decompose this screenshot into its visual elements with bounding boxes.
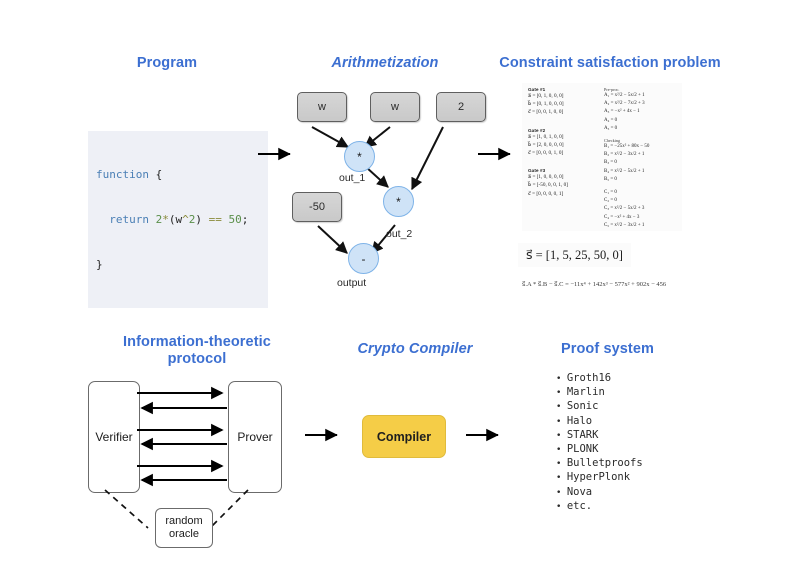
- poly-row: A₂ = x²/2 − 7x/2 + 3: [604, 100, 680, 108]
- list-item: HyperPlonk: [556, 471, 643, 485]
- protocol-verifier-label: Verifier: [95, 430, 132, 444]
- list-item: etc.: [556, 500, 643, 514]
- constraint-panel: Gate #1 a⃗ = [0, 1, 0, 0, 0] b⃗ = [0, 1,…: [522, 83, 682, 231]
- proof-system-list: Groth16 Marlin Sonic Halo STARK PLONK Bu…: [556, 372, 643, 514]
- poly-row: B₁ = −25x² + 80x − 50: [604, 143, 680, 151]
- graph-gate-node-mul-2: *: [383, 186, 414, 217]
- gate-vector-row: a⃗ = [1, 0, 1, 0, 0]: [528, 133, 600, 141]
- poly-block: Checking B₁ = −25x² + 80x − 50 B₂ = x²/2…: [604, 138, 680, 184]
- final-equation: s⃗.A * s⃗.B − s⃗.C = −11x⁴ + 142x³ − 577…: [522, 280, 666, 288]
- graph-gate-node-label: *: [396, 195, 401, 209]
- program-code-block: function { return 2*(w^2) == 50; }: [88, 131, 268, 308]
- poly-row: C₅ = x²/2 − 3x/2 + 1: [604, 222, 680, 230]
- gate-vector-row: c⃗ = [0, 0, 0, 0, 1]: [528, 190, 600, 198]
- diagram-canvas: Program Arithmetization Constraint satis…: [0, 0, 800, 566]
- graph-input-node-w-1: w: [297, 92, 347, 122]
- gate-vector-row: b⃗ = [2, 0, 0, 0, 0]: [528, 141, 600, 149]
- wire-label-out-2: out_2: [386, 228, 412, 240]
- graph-input-node-label: 2: [458, 101, 464, 113]
- gate-vector-row: c⃗ = [0, 0, 0, 1, 0]: [528, 149, 600, 157]
- graph-gate-node-label: -: [362, 252, 366, 266]
- constraint-gates-column: Gate #1 a⃗ = [0, 1, 0, 0, 0] b⃗ = [0, 1,…: [528, 87, 600, 198]
- poly-block: Pre-proc. A₁ = x²/2 − 5x/2 + 1 A₂ = x²/2…: [604, 87, 680, 133]
- graph-gate-node-mul-1: *: [344, 141, 375, 172]
- graph-input-node-label: w: [318, 101, 326, 113]
- graph-gate-node-sub: -: [348, 243, 379, 274]
- list-item: Halo: [556, 415, 643, 429]
- proof-system-items: Groth16 Marlin Sonic Halo STARK PLONK Bu…: [556, 372, 643, 514]
- poly-row: C₃ = x²/2 − 5x/2 + 3: [604, 205, 680, 213]
- gate-vector-row: c⃗ = [0, 0, 1, 0, 0]: [528, 108, 600, 116]
- heading-information-theoretic-protocol: Information-theoretic protocol: [106, 334, 288, 368]
- list-item: Nova: [556, 486, 643, 500]
- heading-constraint-satisfaction-problem: Constraint satisfaction problem: [490, 55, 730, 72]
- gate-block: Gate #3 a⃗ = [1, 0, 0, 0, 0] b⃗ = [-50, …: [528, 168, 600, 198]
- graph-gate-node-label: *: [357, 150, 362, 164]
- poly-row: B₂ = x²/2 − 3x/2 + 1: [604, 151, 680, 159]
- graph-input-node-label: w: [391, 101, 399, 113]
- poly-row: B₅ = 0: [604, 176, 680, 184]
- gate-block: Gate #2 a⃗ = [1, 0, 1, 0, 0] b⃗ = [2, 0,…: [528, 128, 600, 158]
- wire-label-out-1: out_1: [339, 172, 365, 184]
- protocol-message-arrows: [136, 381, 232, 491]
- poly-row: A₄ = 0: [604, 117, 680, 125]
- poly-block: C₁ = 0 C₂ = 0 C₃ = x²/2 − 5x/2 + 3 C₄ = …: [604, 189, 680, 230]
- gate-vector-row: b⃗ = [-50, 0, 0, 1, 0]: [528, 181, 600, 189]
- graph-input-node-label: -50: [309, 201, 325, 213]
- arrow-protocol-to-compiler: [305, 426, 347, 446]
- code-line-2: return 2*(w^2) == 50;: [96, 212, 258, 227]
- heading-crypto-compiler: Crypto Compiler: [330, 341, 500, 358]
- poly-row: B₄ = x²/2 − 5x/2 + 1: [604, 168, 680, 176]
- list-item: Bulletproofs: [556, 457, 643, 471]
- list-item: Marlin: [556, 386, 643, 400]
- witness-vector: s⃗ = [1, 5, 25, 50, 0]: [518, 243, 631, 267]
- arrow-compiler-to-proof-system: [466, 426, 508, 446]
- protocol-prover-box: Prover: [228, 381, 282, 493]
- poly-row: A₃ = −x² + 4x − 1: [604, 108, 680, 116]
- poly-row: C₄ = −x² + 4x − 3: [604, 214, 680, 222]
- random-oracle-label-line1: random: [165, 515, 202, 528]
- wire-label-output: output: [337, 277, 366, 289]
- poly-row: C₂ = 0: [604, 197, 680, 205]
- list-item: Groth16: [556, 372, 643, 386]
- graph-input-node-minus50: -50: [292, 192, 342, 222]
- heading-proof-system: Proof system: [520, 341, 695, 358]
- compiler-box: Compiler: [362, 415, 446, 458]
- poly-row: A₁ = x²/2 − 5x/2 + 1: [604, 92, 680, 100]
- poly-row: B₃ = 0: [604, 159, 680, 167]
- graph-input-node-2: 2: [436, 92, 486, 122]
- heading-arithmetization: Arithmetization: [312, 55, 458, 72]
- gate-vector-row: a⃗ = [0, 1, 0, 0, 0]: [528, 92, 600, 100]
- heading-program: Program: [106, 55, 228, 72]
- poly-row: C₁ = 0: [604, 189, 680, 197]
- constraint-polynomials-column: Pre-proc. A₁ = x²/2 − 5x/2 + 1 A₂ = x²/2…: [604, 87, 680, 230]
- random-oracle-label-line2: oracle: [169, 528, 199, 541]
- heading-line-1: Information-theoretic: [106, 334, 288, 351]
- heading-line-2: protocol: [106, 351, 288, 368]
- arrow-arithmetization-to-constraint: [478, 145, 520, 165]
- graph-input-node-w-2: w: [370, 92, 420, 122]
- code-line-1: function {: [96, 167, 258, 182]
- compiler-label: Compiler: [377, 430, 431, 444]
- list-item: PLONK: [556, 443, 643, 457]
- gate-vector-row: b⃗ = [0, 1, 0, 0, 0]: [528, 100, 600, 108]
- poly-row: A₅ = 0: [604, 125, 680, 133]
- random-oracle-box: random oracle: [155, 508, 213, 548]
- list-item: Sonic: [556, 400, 643, 414]
- gate-vector-row: a⃗ = [1, 0, 0, 0, 0]: [528, 173, 600, 181]
- protocol-verifier-box: Verifier: [88, 381, 140, 493]
- protocol-prover-label: Prover: [237, 430, 272, 444]
- code-line-3: }: [96, 257, 258, 272]
- list-item: STARK: [556, 429, 643, 443]
- gate-block: Gate #1 a⃗ = [0, 1, 0, 0, 0] b⃗ = [0, 1,…: [528, 87, 600, 117]
